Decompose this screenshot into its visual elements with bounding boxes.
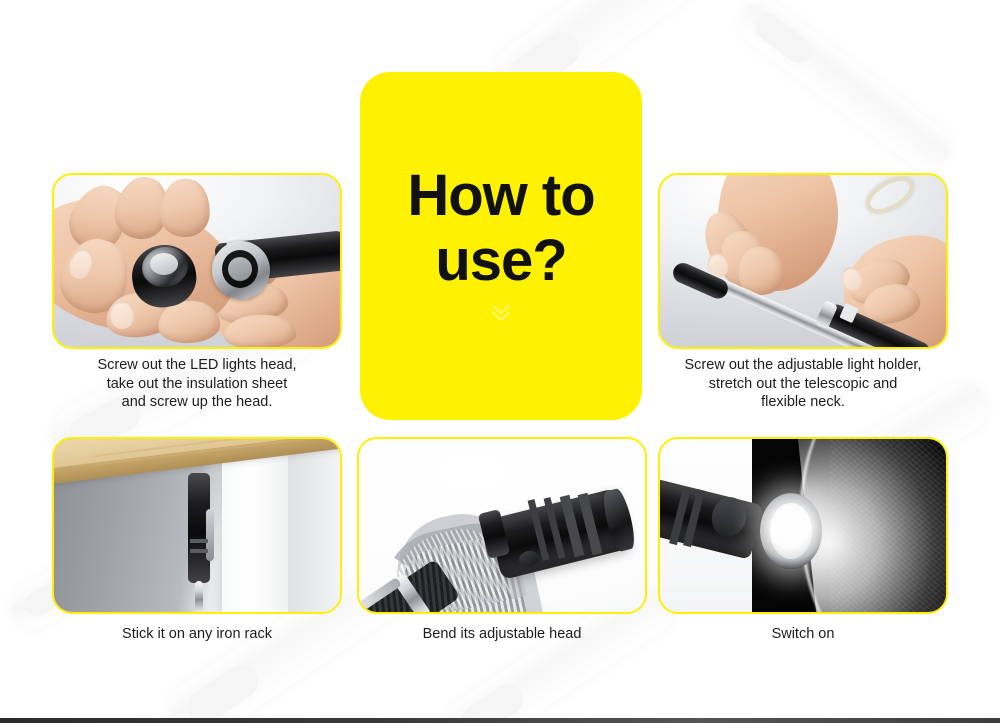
how-to-use-panel: How to use? [360, 72, 642, 420]
bottom-edge-bar [0, 718, 1000, 723]
step-2-caption: Screw out the adjustable light holder, s… [653, 356, 953, 412]
step-3-caption: Stick it on any iron rack [52, 626, 342, 642]
flashlight-watermark [731, 0, 958, 179]
step-2-photo [660, 175, 946, 347]
step-1-photo [54, 175, 340, 347]
step-1-caption: Screw out the LED lights head, take out … [52, 356, 342, 412]
chevron-down-double-icon [488, 300, 514, 331]
step-3-photo [54, 439, 340, 612]
step-card-bottom-left [52, 437, 342, 614]
step-card-bottom-right [658, 437, 948, 614]
step-4-photo [359, 439, 645, 612]
step-5-caption: Switch on [658, 626, 948, 642]
step-card-top-right [658, 173, 948, 349]
step-card-bottom-center [357, 437, 647, 614]
page-title: How to use? [360, 164, 642, 294]
step-card-top-left [52, 173, 342, 349]
step-4-caption: Bend its adjustable head [357, 626, 647, 642]
step-5-photo [660, 439, 946, 612]
